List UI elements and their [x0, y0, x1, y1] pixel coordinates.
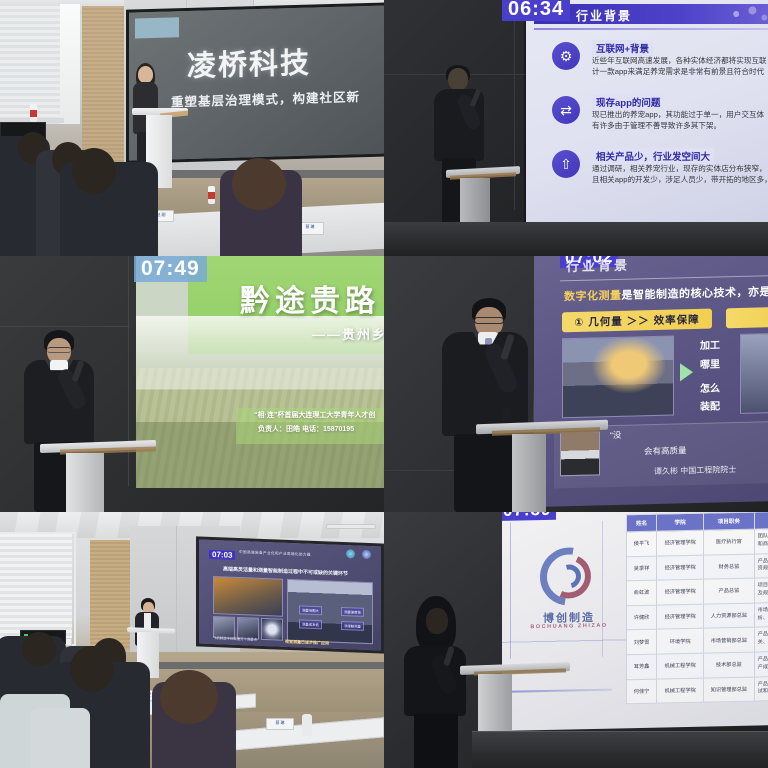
photo-panel-6: 博创制造 BOCHUANG ZHIZAO 姓名 学院 项目职务 职责 侯平飞 经…	[384, 512, 768, 768]
thermos	[302, 714, 312, 736]
projection-screen-2: 行业背景 ⚙ 互联网+背景 近些年互联网高速发展，各种实体经济都将实现互联 计一…	[526, 0, 768, 222]
quote-line-1: “没	[610, 429, 621, 441]
slide-caption-right: 视觉测量已逐步推广应用	[285, 639, 329, 647]
countdown-timer: 07:03	[209, 550, 235, 560]
lectern-3	[40, 442, 156, 512]
audience-head	[70, 646, 114, 692]
slide-tag: 非接触测量	[341, 621, 364, 631]
presentation-clicker	[502, 408, 511, 421]
cell-role: 人力资源部总监	[704, 603, 754, 629]
factory-photo	[562, 336, 674, 419]
photo-panel-4: 07:02 行业背景 数字化测量是智能制造的核心技术，亦是零 ① 几何量 ＞＞ …	[384, 256, 768, 512]
slide-caption-left: 飞机制造中的数据万个测量点	[213, 635, 257, 642]
cell-duty: 产品技术研发分析、生 产成本费用的全面核算	[754, 651, 768, 677]
slide-headline: 高端高灵活量和测量智能制造过程中不可或缺的关键环节	[223, 565, 348, 577]
audience-head	[72, 148, 116, 194]
cell-role: 市场营销部总监	[704, 627, 754, 653]
step-label: 装配	[700, 397, 720, 412]
step-label: 加工	[700, 336, 720, 351]
cell-school: 经济管理学院	[657, 579, 704, 605]
company-logo-icon	[540, 547, 598, 606]
countdown-timer: 07:49	[134, 256, 207, 282]
water-bottle	[30, 104, 37, 122]
glasses-icon	[474, 317, 504, 324]
block-line-1: 通过调研，相关养宠行业，现存的实体店分布狭窄，	[592, 163, 767, 174]
slide-photo-5	[261, 618, 283, 641]
cell-role: 医疗执行官	[704, 529, 754, 555]
table-row: 刘梦雪 环境学院 市场营销部总监 产品的竞争优势和相 关、服务以及竞业方向	[627, 626, 768, 655]
step-label: 哪里	[700, 355, 720, 370]
photo-grid: 凌桥科技 重塑基层治理模式，构建社区新 赵 刚 蔡 琳	[0, 0, 768, 768]
slide-subtitle: ——贵州乡村振	[312, 324, 384, 343]
machine-photo	[740, 333, 768, 414]
block-line-2: 且相关app的开发少，涉足人员少，带开拓的地区多，	[592, 174, 768, 185]
wrench-gear-icon: ⚙	[552, 42, 580, 70]
slide-banner: 中国高端装备产业化和产业高端化助力器	[239, 550, 311, 558]
countdown-timer: 07:39	[502, 512, 556, 521]
lectern-column	[512, 434, 546, 512]
legs	[414, 714, 458, 768]
photo-panel-2: 行业背景 ⚙ 互联网+背景 近些年互联网高速发展，各种实体经济都将实现互联 计一…	[384, 0, 768, 256]
slide-pill-label: ① 几何量 ＞＞ 效率保障	[562, 309, 712, 333]
wall-seam	[176, 526, 177, 656]
head	[138, 66, 153, 83]
audience-head	[232, 158, 286, 210]
wood-wall-panel	[82, 6, 124, 172]
cell-school: 经济管理学院	[657, 530, 704, 556]
water-bottle	[208, 186, 215, 204]
team-table: 姓名 学院 项目职务 职责 侯平飞 经济管理学院 医疗执行官 团队总策划、企业市…	[626, 512, 768, 704]
cell-duty: 团队总策划、企业市场 和商业模式计算	[754, 528, 768, 554]
snowflake-decoration-icon	[720, 5, 768, 23]
university-logo-icon	[362, 550, 371, 559]
slide-tag: 测量成本低	[299, 619, 322, 629]
table-row: 耳芳鑫 机械工程学院 技术部总监 产品技术研发分析、生 产成本费用的全面核算	[627, 651, 768, 680]
projector-mount	[326, 524, 376, 529]
block-title: 相关产品少，行业发空间大	[592, 148, 714, 164]
cell-name: 吴季祥	[627, 556, 657, 581]
slide-header-title: 行业背景	[566, 256, 630, 275]
slide-photo-1	[213, 576, 283, 617]
table-row: 俞虹波 经济管理学院 产品总监 项目建立可行性分析 以及规划设计	[627, 577, 768, 606]
lectern-4	[476, 422, 608, 512]
col-school: 学院	[657, 513, 704, 531]
slide-title: 黔途贵路	[240, 276, 380, 320]
cell-name: 耳芳鑫	[627, 654, 657, 679]
cell-school: 机械工程学院	[657, 653, 704, 679]
cell-duty: 产品行业模型的调研 测试和其供需关系管理	[754, 675, 768, 701]
countdown-timer: 06:34	[502, 0, 570, 21]
photo-panel-1: 凌桥科技 重塑基层治理模式，构建社区新 赵 刚 蔡 琳	[0, 0, 384, 256]
cell-duty: 市场战略规划和理念分 析、企业社会公益性质	[754, 602, 768, 628]
cell-school: 机械工程学院	[657, 678, 704, 704]
cell-duty: 产品的竞争优势和相 关、服务以及竞业方向	[754, 626, 768, 652]
cell-name: 何佳宁	[627, 679, 657, 704]
audience-head	[22, 632, 56, 666]
block-title: 现存app的问题	[592, 94, 664, 110]
cell-role: 财务总监	[704, 554, 754, 580]
stage-floor	[384, 222, 768, 256]
slide-rule	[560, 275, 768, 281]
stage-floor	[472, 732, 768, 768]
col-name: 姓名	[627, 514, 657, 532]
audience-head	[160, 670, 218, 724]
slide-footer-line-1: “相·连”杯首届大连理工大学青年人才创	[254, 410, 375, 420]
window-frame	[60, 4, 80, 124]
slide-rule	[534, 28, 768, 30]
col-duty: 职责	[754, 512, 768, 529]
exchange-arrows-icon: ⇄	[552, 96, 580, 124]
cell-name: 刘梦雪	[627, 630, 657, 655]
wall-seam	[0, 326, 130, 327]
col-role: 项目职务	[704, 512, 754, 530]
slide-accent-box	[135, 17, 179, 38]
slide-lead-rest: 是智能制造的核心技术，亦是零	[622, 286, 768, 302]
table-row: 吴季祥 经济管理学院 财务总监 产品推介以及项目与 融资规划、财务结算核算	[627, 552, 768, 581]
lectern-column	[66, 453, 104, 512]
projection-screen-5: 07:03 中国高端装备产业化和产业高端化助力器 高端高灵活量和测量智能制造过程…	[196, 536, 384, 653]
organizer-logo-icon	[346, 549, 355, 558]
block-line-1: 现已推出的养宠app，其功能过于单一，用户交互体	[592, 109, 764, 120]
table-row: 许健欣 经济管理学院 人力资源部总监 市场战略规划和理念分 析、企业社会公益性质	[627, 602, 768, 631]
head	[448, 68, 468, 91]
cell-role: 知识管理部总监	[704, 677, 754, 703]
block-line-2: 有许多由于管理不善导致许多其下架。	[592, 120, 721, 131]
table-row: 侯平飞 经济管理学院 医疗执行官 团队总策划、企业市场 和商业模式计算	[627, 528, 768, 557]
cell-name: 俞虹波	[627, 580, 657, 605]
slide-lead-text: 数字化测量是智能制造的核心技术，亦是零	[564, 283, 768, 304]
slide-tag: 测量范围大	[299, 605, 322, 615]
cell-role: 技术部总监	[704, 652, 754, 678]
cell-school: 经济管理学院	[657, 555, 704, 581]
photo-panel-3: 黔途贵路 ——贵州乡村振 “相·连”杯首届大连理工大学青年人才创 负责人：田皓 …	[0, 256, 384, 512]
projection-screen-3: 黔途贵路 ——贵州乡村振 “相·连”杯首届大连理工大学青年人才创 负责人：田皓 …	[136, 256, 384, 488]
nameplate: 蔡 琳	[266, 718, 294, 730]
window-blinds	[0, 534, 72, 644]
cell-school: 环境学院	[657, 629, 704, 655]
slide-lead-highlight: 数字化测量	[564, 290, 622, 303]
step-label: 怎么	[700, 379, 720, 394]
slide-tag: 测量速度快	[341, 607, 364, 617]
slide-pill-label-2	[726, 307, 768, 328]
chair-back	[30, 708, 90, 768]
cell-school: 经济管理学院	[657, 604, 704, 630]
cell-role: 产品总监	[704, 578, 754, 604]
cell-name: 许健欣	[627, 605, 657, 630]
up-arrow-icon: ⇧	[552, 150, 580, 178]
slide-header-title: 行业背景	[576, 7, 632, 24]
slide-title: 凌桥科技	[187, 37, 384, 85]
glasses-icon	[47, 347, 71, 353]
slide-subtitle: 重塑基层治理模式，构建社区新	[171, 84, 384, 110]
block-title: 互联网+背景	[592, 40, 653, 56]
photo-panel-5: 07:03 中国高端装备产业化和产业高端化助力器 高端高灵活量和测量智能制造过程…	[0, 512, 384, 768]
block-line-1: 近些年互联网高速发展，各种实体经济都将实现互联	[592, 55, 767, 66]
cell-duty: 项目建立可行性分析 以及规划设计	[754, 577, 768, 603]
cell-name: 侯平飞	[627, 531, 657, 556]
wood-wall-panel	[90, 540, 130, 650]
table-row: 何佳宁 机械工程学院 知识管理部总监 产品行业模型的调研 测试和其供需关系管理	[627, 675, 768, 704]
block-line-2: 计一款app来满足养宠需求是非常有前景且符合时代	[592, 66, 764, 77]
head	[426, 608, 448, 634]
cell-duty: 产品推介以及项目与 融资规划、财务结算核算	[754, 552, 768, 578]
right-arrow-icon	[680, 363, 693, 381]
slide-footer-line-2: 负责人：田皓 电话：15870195	[258, 424, 354, 434]
quote-attribution: 谭久彬 中国工程院院士	[654, 464, 736, 477]
quote-line-2: 会有高质量	[644, 444, 687, 457]
